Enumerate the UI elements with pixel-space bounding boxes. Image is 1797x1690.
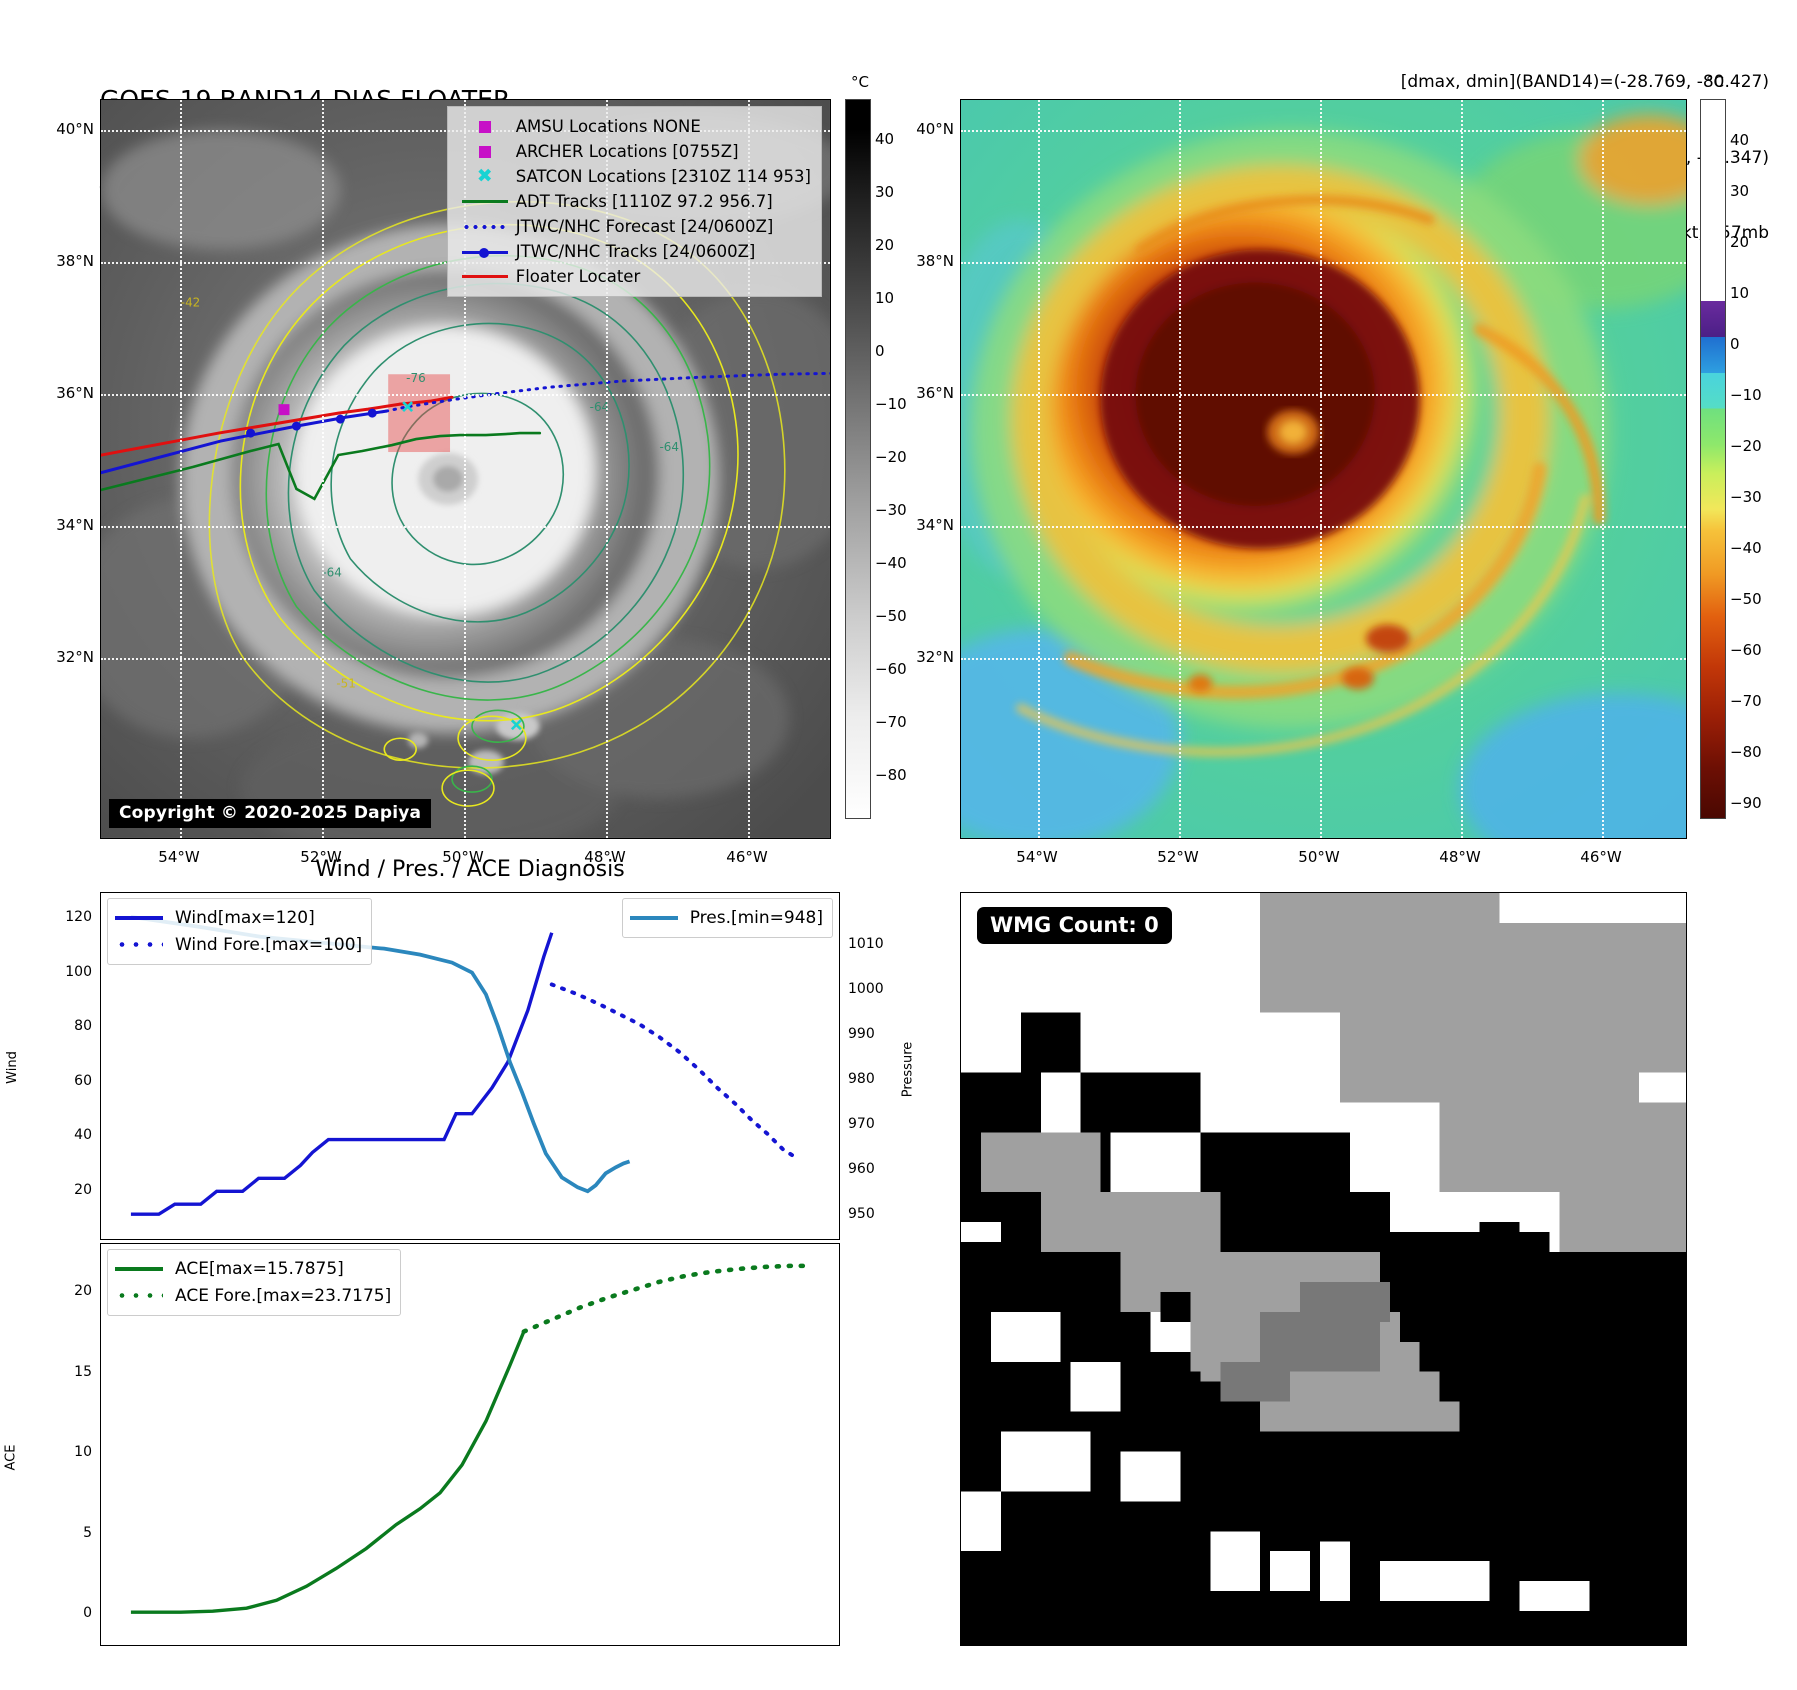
legend-item-floater-locater[interactable]: Floater Locater bbox=[456, 264, 811, 289]
legend-item-label: ARCHER Locations [0755Z] bbox=[514, 142, 739, 161]
wind-y-tick: 100 bbox=[65, 964, 92, 980]
awv-y-tick: 38°N bbox=[916, 252, 954, 270]
svg-text:-64: -64 bbox=[322, 566, 342, 580]
blue-line-marker-icon bbox=[456, 247, 514, 257]
awv-cbar-tick: −90 bbox=[1730, 794, 1762, 812]
awv-y-tick: 40°N bbox=[916, 120, 954, 138]
red-line-icon bbox=[456, 275, 514, 278]
legend-item-wind[interactable]: Wind[max=120] bbox=[115, 904, 362, 931]
pressure-legend[interactable]: Pres.[min=948] bbox=[622, 898, 833, 938]
pressure-y-tick: 1010 bbox=[848, 936, 884, 952]
ir-cbar-tick: −40 bbox=[875, 554, 907, 572]
ace-axis-title: ACE bbox=[3, 1445, 18, 1471]
ace-y-tick: 15 bbox=[74, 1364, 92, 1380]
awv-enhanced-panel[interactable] bbox=[960, 99, 1687, 839]
legend-item-jtwc-tracks[interactable]: JTWC/NHC Tracks [24/0600Z] bbox=[456, 239, 811, 264]
awv-cbar-tick: −10 bbox=[1730, 386, 1762, 404]
legend-item-ace[interactable]: ACE[max=15.7875] bbox=[115, 1255, 391, 1282]
legend-item-archer[interactable]: ARCHER Locations [0755Z] bbox=[456, 139, 811, 164]
ir-cbar-tick: 30 bbox=[875, 183, 894, 201]
legend-item-adt-tracks[interactable]: ADT Tracks [1110Z 97.2 956.7] bbox=[456, 189, 811, 214]
legend-item-label: Floater Locater bbox=[514, 267, 641, 286]
awv-cbar-tick: −20 bbox=[1730, 437, 1762, 455]
ir-cbar-tick: −10 bbox=[875, 395, 907, 413]
blue-dotted-line-icon bbox=[456, 225, 514, 229]
ir-colorbar-ticks: 40 30 20 10 0 −10 −20 −30 −40 −50 −60 −7… bbox=[875, 99, 945, 819]
ir-cbar-tick: 0 bbox=[875, 342, 885, 360]
wind-y-tick: 60 bbox=[74, 1073, 92, 1089]
legend-item-label: ACE[max=15.7875] bbox=[171, 1259, 344, 1279]
awv-cbar-tick: −50 bbox=[1730, 590, 1762, 608]
green-solid-line-icon bbox=[115, 1267, 171, 1271]
ace-chart[interactable]: ACE[max=15.7875] ACE Fore.[max=23.7175] bbox=[100, 1243, 840, 1646]
legend-item-ace-forecast[interactable]: ACE Fore.[max=23.7175] bbox=[115, 1282, 391, 1309]
awv-gridline-34n bbox=[961, 526, 1686, 528]
awv-x-tick: 46°W bbox=[1580, 848, 1621, 866]
pressure-y-tick: 1000 bbox=[848, 981, 884, 997]
ace-y-tick: 5 bbox=[83, 1525, 92, 1541]
ir-cbar-tick: −50 bbox=[875, 607, 907, 625]
awv-x-tick: 52°W bbox=[1157, 848, 1198, 866]
pressure-y-tick: 990 bbox=[848, 1026, 875, 1042]
awv-x-axis: 54°W 52°W 50°W 48°W 46°W bbox=[960, 848, 1687, 870]
legend-item-label: Wind Fore.[max=100] bbox=[171, 935, 362, 955]
svg-text:-76: -76 bbox=[406, 371, 426, 385]
magenta-square-icon bbox=[456, 121, 514, 133]
ir-gridline-34n bbox=[101, 526, 830, 528]
pressure-y-tick: 970 bbox=[848, 1116, 875, 1132]
legend-item-wind-forecast[interactable]: Wind Fore.[max=100] bbox=[115, 931, 362, 958]
svg-text:-51: -51 bbox=[336, 676, 356, 690]
awv-colorbar: °C 40 30 20 10 0 −10 −20 −30 −40 −50 −60… bbox=[1700, 73, 1796, 833]
ir-y-tick: 36°N bbox=[56, 384, 94, 402]
awv-gridline-40n bbox=[961, 130, 1686, 132]
ir-y-tick: 32°N bbox=[56, 648, 94, 666]
dashboard-root: GOES-19 BAND14-DIAS FLOATER Time: 2025/0… bbox=[0, 0, 1797, 1690]
awv-gridline-32n bbox=[961, 658, 1686, 660]
ir-cbar-tick: −20 bbox=[875, 448, 907, 466]
wmg-count-badge: WMG Count: 0 bbox=[977, 907, 1172, 944]
awv-cbar-tick: 10 bbox=[1730, 284, 1749, 302]
ir-colorbar: °C 40 30 20 10 0 −10 −20 −30 −40 −50 −60… bbox=[845, 73, 945, 833]
awv-y-tick: 32°N bbox=[916, 648, 954, 666]
copyright-badge: Copyright © 2020-2025 Dapiya bbox=[109, 799, 431, 828]
ir-cbar-tick: −80 bbox=[875, 766, 907, 784]
wmg-mask-image bbox=[961, 893, 1686, 1645]
ir-y-tick: 40°N bbox=[56, 120, 94, 138]
legend-item-label: ACE Fore.[max=23.7175] bbox=[171, 1286, 391, 1306]
teal-solid-line-icon bbox=[630, 916, 686, 920]
ir-cbar-tick: −30 bbox=[875, 501, 907, 519]
awv-cbar-tick: −80 bbox=[1730, 743, 1762, 761]
legend-item-pressure[interactable]: Pres.[min=948] bbox=[630, 904, 823, 931]
blue-solid-line-icon bbox=[115, 916, 171, 920]
cyan-x-icon: ✖ bbox=[456, 167, 514, 186]
ir-gridline-54w bbox=[180, 100, 182, 838]
wind-y-tick: 40 bbox=[74, 1127, 92, 1143]
ir-floater-panel[interactable]: -76 -64 -64 -64 -51 -42 Copyright © 2020… bbox=[100, 99, 831, 839]
green-dotted-line-icon bbox=[115, 1293, 171, 1298]
svg-text:-42: -42 bbox=[181, 295, 201, 309]
ir-y-tick: 38°N bbox=[56, 252, 94, 270]
awv-gridline-38n bbox=[961, 262, 1686, 264]
awv-cbar-tick: −40 bbox=[1730, 539, 1762, 557]
awv-x-tick: 54°W bbox=[1016, 848, 1057, 866]
awv-satellite-image bbox=[961, 100, 1686, 838]
awv-colorbar-gradient bbox=[1700, 99, 1726, 819]
wmg-mask-panel[interactable]: WMG Count: 0 bbox=[960, 892, 1687, 1646]
awv-gridline-50w bbox=[1320, 100, 1322, 838]
awv-gridline-48w bbox=[1461, 100, 1463, 838]
awv-colorbar-title: °C bbox=[1706, 73, 1724, 91]
awv-cbar-tick: 30 bbox=[1730, 182, 1749, 200]
awv-cbar-tick: 0 bbox=[1730, 335, 1740, 353]
legend-item-label: Pres.[min=948] bbox=[686, 908, 823, 928]
wind-y-tick: 120 bbox=[65, 909, 92, 925]
awv-gridline-36n bbox=[961, 394, 1686, 396]
svg-text:-64: -64 bbox=[659, 440, 679, 454]
awv-colorbar-ticks: 40 30 20 10 0 −10 −20 −30 −40 −50 −60 −7… bbox=[1730, 99, 1796, 819]
legend-item-label: JTWC/NHC Forecast [24/0600Z] bbox=[514, 217, 774, 236]
awv-y-tick: 34°N bbox=[916, 516, 954, 534]
awv-cbar-tick: −70 bbox=[1730, 692, 1762, 710]
legend-item-label: ADT Tracks [1110Z 97.2 956.7] bbox=[514, 192, 773, 211]
wind-legend[interactable]: Wind[max=120] Wind Fore.[max=100] bbox=[107, 898, 372, 965]
ace-y-tick: 20 bbox=[74, 1283, 92, 1299]
wind-y-tick: 80 bbox=[74, 1018, 92, 1034]
pressure-y-tick: 950 bbox=[848, 1206, 875, 1222]
awv-cbar-tick: 20 bbox=[1730, 233, 1749, 251]
legend-item-jtwc-forecast[interactable]: JTWC/NHC Forecast [24/0600Z] bbox=[456, 214, 811, 239]
ir-gridline-52w bbox=[322, 100, 324, 838]
awv-gridline-54w bbox=[1038, 100, 1040, 838]
magenta-square-icon bbox=[456, 146, 514, 158]
legend-item-label: JTWC/NHC Tracks [24/0600Z] bbox=[514, 242, 756, 261]
legend-item-label: Wind[max=120] bbox=[171, 908, 315, 928]
ir-cbar-tick: −60 bbox=[875, 660, 907, 678]
wind-axis-title: Wind bbox=[5, 1051, 20, 1084]
diagnosis-title: Wind / Pres. / ACE Diagnosis bbox=[100, 857, 840, 882]
ir-cbar-tick: −70 bbox=[875, 713, 907, 731]
legend-item-label: AMSU Locations NONE bbox=[514, 117, 701, 136]
ir-y-tick: 34°N bbox=[56, 516, 94, 534]
ace-y-tick: 10 bbox=[74, 1444, 92, 1460]
awv-cbar-tick: −60 bbox=[1730, 641, 1762, 659]
ir-cbar-tick: 20 bbox=[875, 236, 894, 254]
ir-cbar-tick: 10 bbox=[875, 289, 894, 307]
ir-cbar-tick: 40 bbox=[875, 130, 894, 148]
ir-gridline-32n bbox=[101, 658, 830, 660]
green-line-icon bbox=[456, 200, 514, 203]
awv-cbar-tick: 40 bbox=[1730, 131, 1749, 149]
awv-y-tick: 36°N bbox=[916, 384, 954, 402]
ir-gridline-36n bbox=[101, 394, 830, 396]
legend-item-satcon[interactable]: ✖ SATCON Locations [2310Z 114 953] bbox=[456, 164, 811, 189]
awv-x-tick: 50°W bbox=[1298, 848, 1339, 866]
ace-legend[interactable]: ACE[max=15.7875] ACE Fore.[max=23.7175] bbox=[107, 1249, 401, 1316]
ir-map-legend[interactable]: AMSU Locations NONE ARCHER Locations [07… bbox=[447, 106, 822, 297]
awv-cbar-tick: −30 bbox=[1730, 488, 1762, 506]
wind-pressure-chart[interactable]: Wind[max=120] Wind Fore.[max=100] Pres.[… bbox=[100, 892, 840, 1240]
wind-y-tick: 20 bbox=[74, 1182, 92, 1198]
ir-colorbar-title: °C bbox=[851, 73, 869, 91]
awv-x-tick: 48°W bbox=[1439, 848, 1480, 866]
legend-item-amsu[interactable]: AMSU Locations NONE bbox=[456, 114, 811, 139]
blue-dotted-line-icon bbox=[115, 942, 171, 947]
pressure-y-tick: 980 bbox=[848, 1071, 875, 1087]
ace-y-tick: 0 bbox=[83, 1605, 92, 1621]
pressure-axis-title: Pressure bbox=[900, 1042, 915, 1098]
awv-gridline-46w bbox=[1602, 100, 1604, 838]
awv-gridline-52w bbox=[1179, 100, 1181, 838]
ir-colorbar-gradient bbox=[845, 99, 871, 819]
pressure-y-tick: 960 bbox=[848, 1161, 875, 1177]
legend-item-label: SATCON Locations [2310Z 114 953] bbox=[514, 167, 811, 186]
